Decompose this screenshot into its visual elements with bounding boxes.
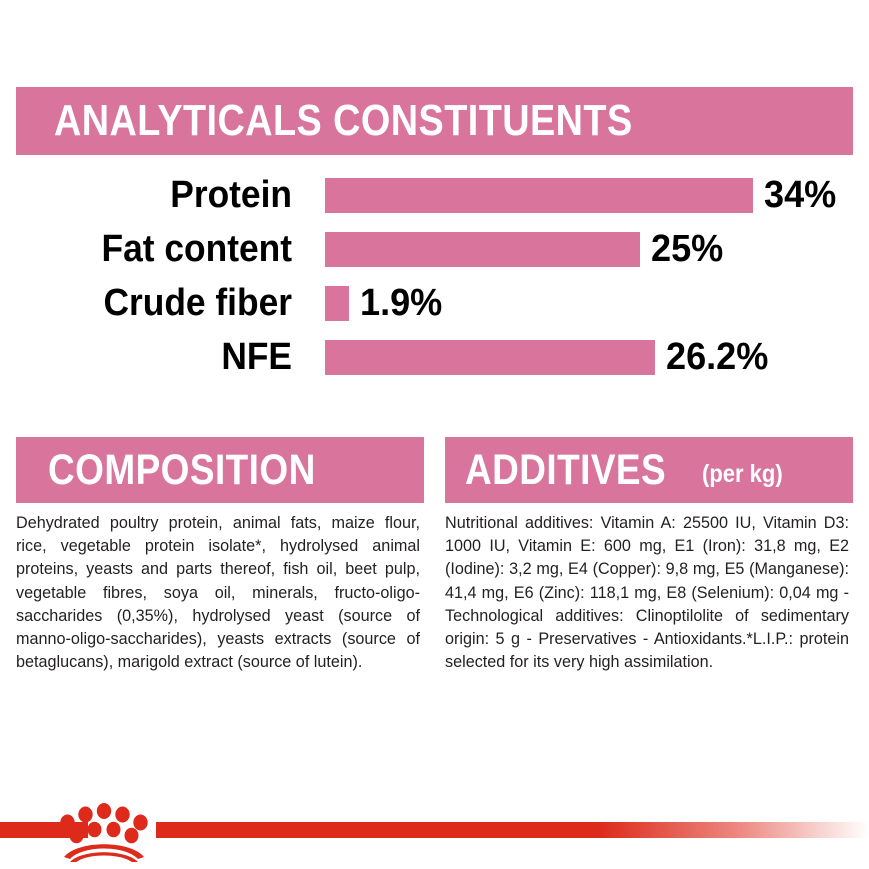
chart-bar xyxy=(325,340,655,375)
chart-row: Protein34% xyxy=(0,172,869,218)
chart-row-label: Protein xyxy=(20,172,292,218)
chart-bar-value: 25% xyxy=(651,226,723,272)
composition-header: COMPOSITION xyxy=(16,437,424,503)
additives-title: ADDITIVES xyxy=(465,446,666,495)
analyticals-bar-chart: Protein34%Fat content25%Crude fiber1.9%N… xyxy=(0,172,869,390)
composition-body-text: Dehydrated poultry protein, animal fats,… xyxy=(16,512,420,674)
nutrition-panel: ANALYTICALS CONSTITUENTS Protein34%Fat c… xyxy=(0,0,869,869)
chart-bar-group: 34% xyxy=(325,172,840,218)
analyticals-constituents-title: ANALYTICALS CONSTITUENTS xyxy=(54,96,633,146)
additives-header: ADDITIVES (per kg) xyxy=(445,437,853,503)
chart-bar-value: 26.2% xyxy=(666,334,768,380)
additives-per-kg-label: (per kg) xyxy=(702,460,783,489)
chart-row-label: Fat content xyxy=(20,226,292,272)
chart-bar-group: 1.9% xyxy=(325,280,447,326)
brand-band xyxy=(0,800,869,869)
chart-row: Crude fiber1.9% xyxy=(0,280,869,326)
additives-body-text: Nutritional additives: Vitamin A: 25500 … xyxy=(445,512,849,674)
chart-row: NFE26.2% xyxy=(0,334,869,380)
chart-bar xyxy=(325,178,753,213)
chart-bar-value: 34% xyxy=(764,172,836,218)
chart-bar xyxy=(325,232,640,267)
chart-bar xyxy=(325,286,349,321)
chart-row-label: NFE xyxy=(20,334,292,380)
composition-title: COMPOSITION xyxy=(48,446,316,495)
chart-bar-group: 26.2% xyxy=(325,334,774,380)
chart-bar-group: 25% xyxy=(325,226,727,272)
analyticals-constituents-header: ANALYTICALS CONSTITUENTS xyxy=(16,87,853,155)
chart-row: Fat content25% xyxy=(0,226,869,272)
chart-row-label: Crude fiber xyxy=(20,280,292,326)
royal-canin-crown-icon xyxy=(56,800,152,862)
brand-stripe-right xyxy=(156,822,869,838)
chart-bar-value: 1.9% xyxy=(360,280,442,326)
